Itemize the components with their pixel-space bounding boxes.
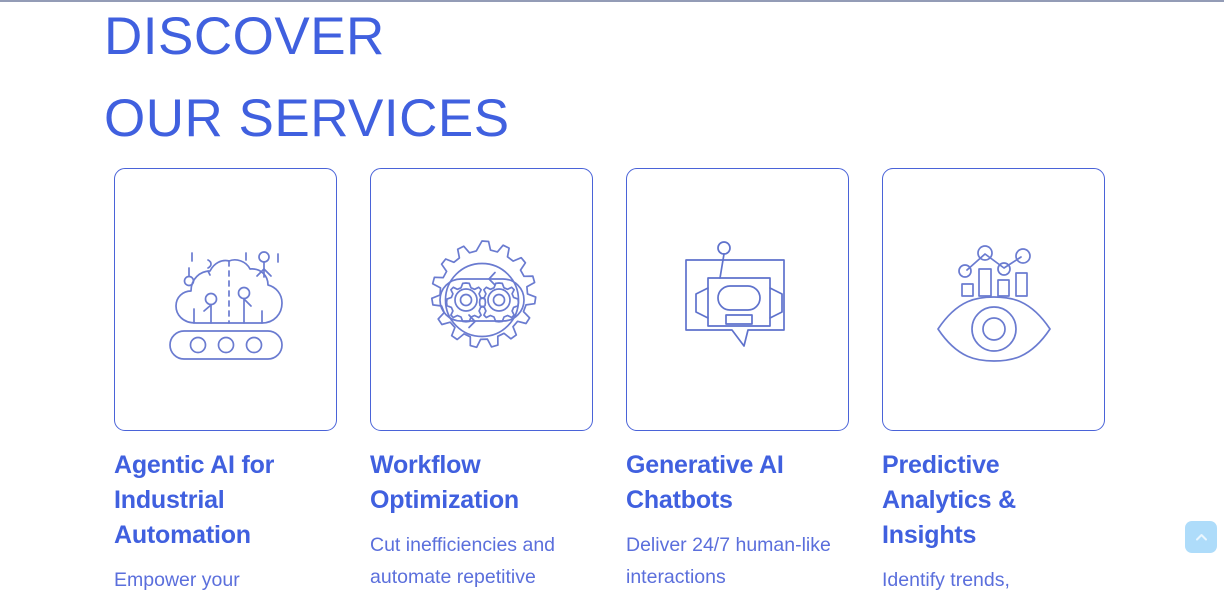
- service-card-title: Generative AI Chatbots: [626, 448, 849, 518]
- page-title-line-2: OUR SERVICES: [104, 78, 1004, 160]
- service-card-title: Workflow Optimization: [370, 448, 593, 518]
- service-card-image-box: [114, 168, 337, 431]
- service-card-image-box: [626, 168, 849, 431]
- services-section-page: DISCOVER OUR SERVICES: [0, 0, 1224, 592]
- page-title-line-1: DISCOVER: [104, 0, 1004, 78]
- service-card-image-box: [370, 168, 593, 431]
- service-card-title: Agentic AI for Industrial Automation: [114, 448, 337, 553]
- services-card-row: Agentic AI for Industrial Automation Emp…: [114, 168, 1109, 592]
- service-card-description: Empower your: [114, 564, 337, 592]
- service-card-description: Deliver 24/7 human-like interactions: [626, 529, 849, 592]
- service-card-description: Cut inefficiencies and automate repetiti…: [370, 529, 593, 592]
- chevron-up-icon: [1194, 530, 1209, 545]
- service-card-workflow-optimization[interactable]: Workflow Optimization Cut inefficiencies…: [370, 168, 593, 592]
- robot-chat-bubble-icon: [674, 238, 802, 362]
- service-card-generative-ai-chatbots[interactable]: Generative AI Chatbots Deliver 24/7 huma…: [626, 168, 849, 592]
- service-card-description: Identify trends,: [882, 564, 1105, 592]
- gears-cycle-icon: [415, 235, 549, 365]
- cloud-conveyor-icon: [156, 235, 296, 365]
- service-card-agentic-ai[interactable]: Agentic AI for Industrial Automation Emp…: [114, 168, 337, 592]
- service-card-predictive-analytics[interactable]: Predictive Analytics & Insights Identify…: [882, 168, 1105, 592]
- scroll-to-top-button[interactable]: [1185, 521, 1217, 553]
- service-card-title: Predictive Analytics & Insights: [882, 448, 1105, 553]
- service-card-image-box: [882, 168, 1105, 431]
- eye-analytics-icon: [928, 237, 1060, 363]
- page-title: DISCOVER OUR SERVICES: [104, 0, 1004, 160]
